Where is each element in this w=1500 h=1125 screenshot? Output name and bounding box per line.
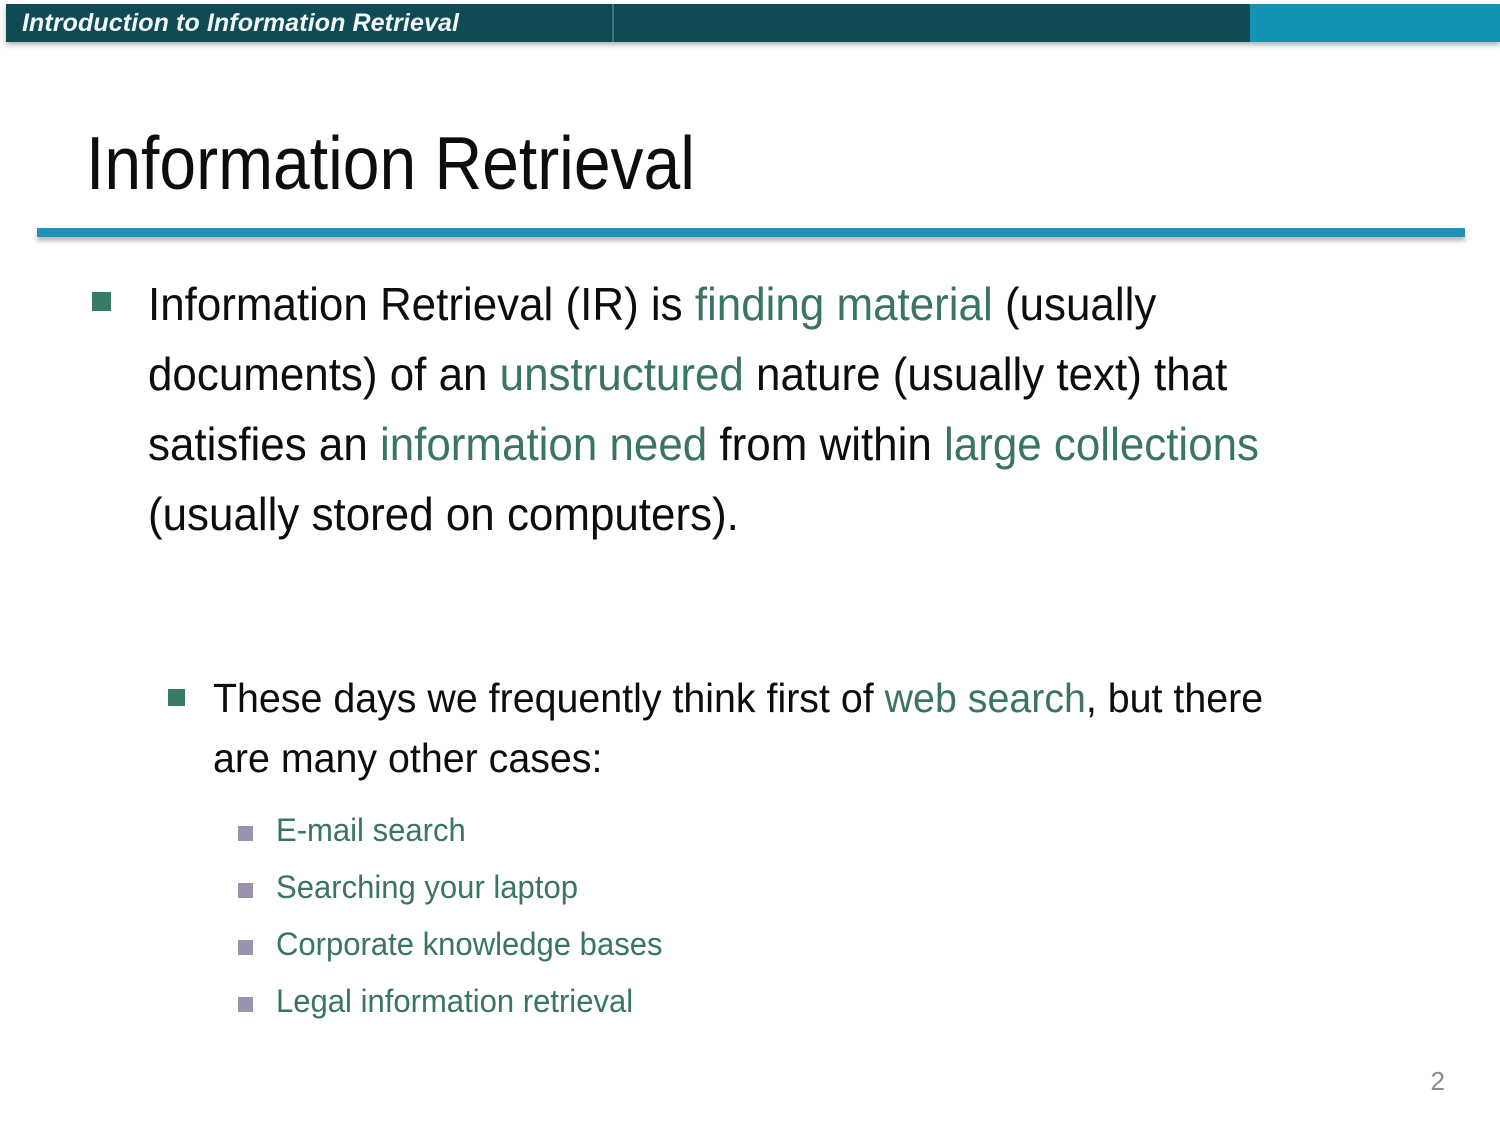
page-number: 2 [1431, 1066, 1445, 1097]
title-underline-rule [37, 228, 1465, 237]
body-text-run: (usually stored on computers). [148, 488, 739, 540]
highlighted-phrase: large collections [944, 418, 1259, 470]
slide-body: Information Retrieval (IR) is finding ma… [0, 270, 1500, 1039]
slide-header-bar: Introduction to Information Retrieval [6, 4, 1500, 42]
slide: Introduction to Information Retrieval In… [0, 0, 1500, 1125]
bullet-level3-text: Corporate knowledge bases [276, 925, 663, 964]
bullet-level2: These days we frequently think first of … [0, 668, 1500, 789]
header-left-band: Introduction to Information Retrieval [6, 4, 1250, 42]
header-right-band [1250, 4, 1500, 42]
highlighted-phrase: finding material [695, 278, 993, 330]
bullet-square-icon [238, 940, 253, 955]
bullet-level3-text: Searching your laptop [276, 868, 578, 907]
header-title-text: Introduction to Information Retrieval [22, 9, 459, 38]
bullet-level3: E-mail search [238, 811, 1500, 850]
bullet-level3-text: Legal information retrieval [276, 982, 633, 1021]
bullet-level1-text: Information Retrieval (IR) is finding ma… [148, 270, 1334, 550]
highlighted-phrase: web search [885, 675, 1086, 721]
bullet-level3: Corporate knowledge bases [238, 925, 1500, 964]
bullet-square-icon [168, 689, 185, 706]
bullet-level2-text: These days we frequently think first of … [213, 668, 1276, 789]
bullet-square-icon [238, 826, 253, 841]
body-text-run: Information Retrieval (IR) is [148, 278, 695, 330]
highlighted-phrase: unstructured [500, 348, 744, 400]
bullet-square-icon [92, 292, 111, 311]
bullet-square-icon [238, 883, 253, 898]
header-divider [612, 4, 614, 42]
bullet-level3: Searching your laptop [238, 868, 1500, 907]
bullet-level3: Legal information retrieval [238, 982, 1500, 1021]
bullet-level3-text: E-mail search [276, 811, 466, 850]
page-title: Information Retrieval [86, 126, 695, 201]
bullet-square-icon [238, 997, 253, 1012]
highlighted-phrase: information need [380, 418, 707, 470]
body-text-run: These days we frequently think first of [213, 675, 885, 721]
bullet-level3-list: E-mail searchSearching your laptopCorpor… [0, 811, 1500, 1021]
bullet-level1: Information Retrieval (IR) is finding ma… [0, 270, 1500, 550]
body-text-run: from within [707, 418, 944, 470]
